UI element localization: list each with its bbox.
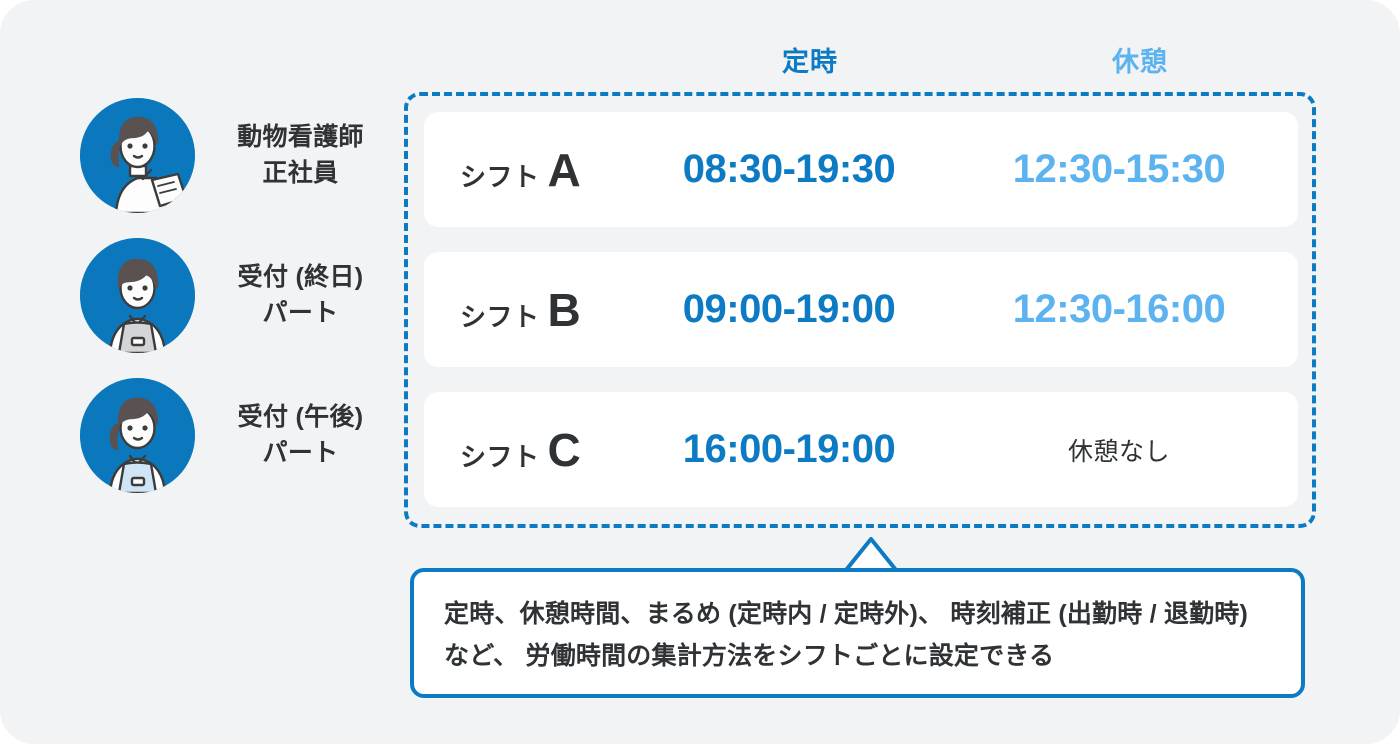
callout-pointer-arrow [836, 533, 906, 573]
column-header-break-time: 休憩 [990, 40, 1290, 79]
shift-card[interactable]: シフト A 08:30-19:30 12:30-15:30 [424, 112, 1298, 227]
shift-name-letter: C [548, 423, 582, 477]
shift-name-prefix: シフト [460, 297, 540, 334]
shift-card[interactable]: シフト C 16:00-19:00 休憩なし [424, 392, 1298, 507]
caption-callout-box: 定時、休憩時間、まるめ (定時内 / 定時外)、 時刻補正 (出勤時 / 退勤時… [410, 568, 1305, 698]
shift-regular-hours: 16:00-19:00 [639, 427, 939, 472]
caption-text: 定時、休憩時間、まるめ (定時内 / 定時外)、 時刻補正 (出勤時 / 退勤時… [444, 594, 1279, 677]
staff-employment-type: パート [201, 296, 400, 332]
staff-list: 動物看護師 正社員 [80, 98, 400, 518]
shift-name: シフト B [460, 283, 581, 337]
staff-item: 受付 (午後) パート [80, 378, 400, 493]
staff-role: 動物看護師 [201, 120, 400, 156]
shift-break-time: 12:30-16:00 [969, 287, 1269, 332]
staff-label: 受付 (午後) パート [195, 400, 400, 471]
nurse-with-clipboard-avatar [80, 98, 195, 213]
staff-employment-type: パート [201, 436, 400, 472]
shift-name-prefix: シフト [460, 157, 540, 194]
shift-card-list: シフト A 08:30-19:30 12:30-15:30 シフト B 09:0… [424, 112, 1298, 532]
shift-settings-infographic: 定時 休憩 [0, 0, 1400, 744]
shift-name: シフト A [460, 143, 581, 197]
shift-break-time: 12:30-15:30 [969, 147, 1269, 192]
staff-employment-type: 正社員 [201, 156, 400, 192]
shift-name-prefix: シフト [460, 437, 540, 474]
staff-role: 受付 (午後) [201, 400, 400, 436]
shift-regular-hours: 08:30-19:30 [639, 147, 939, 192]
shift-card[interactable]: シフト B 09:00-19:00 12:30-16:00 [424, 252, 1298, 367]
shift-name: シフト C [460, 423, 581, 477]
staff-role: 受付 (終日) [201, 260, 400, 296]
shift-name-letter: B [548, 283, 582, 337]
receptionist-gray-apron-avatar [80, 238, 195, 353]
shift-break-time: 休憩なし [969, 432, 1269, 468]
shift-regular-hours: 09:00-19:00 [639, 287, 939, 332]
staff-label: 受付 (終日) パート [195, 260, 400, 331]
staff-label: 動物看護師 正社員 [195, 120, 400, 191]
receptionist-blue-apron-avatar [80, 378, 195, 493]
shift-name-letter: A [548, 143, 582, 197]
column-header-regular-hours: 定時 [660, 40, 960, 79]
staff-item: 動物看護師 正社員 [80, 98, 400, 213]
staff-item: 受付 (終日) パート [80, 238, 400, 353]
